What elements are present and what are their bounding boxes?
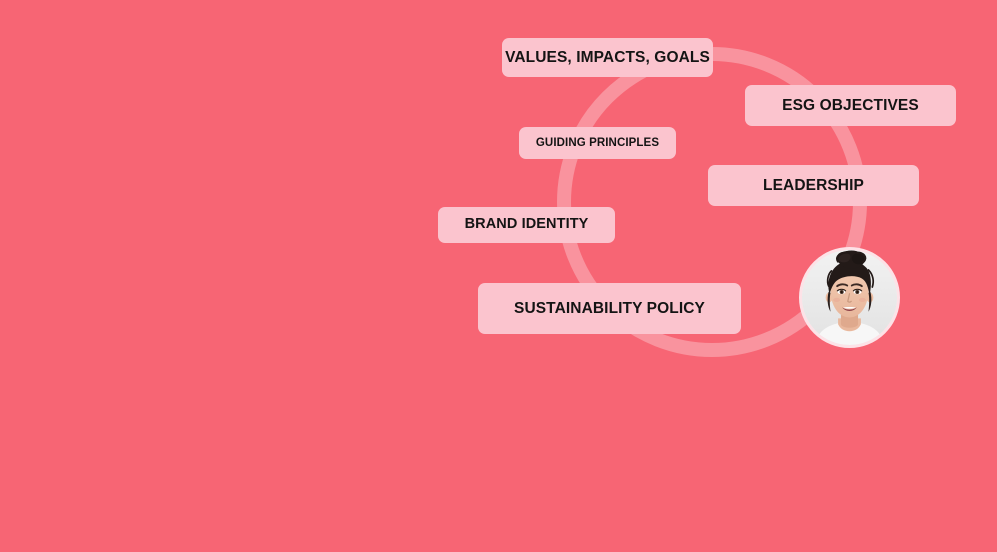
- label-chip-text: GUIDING PRINCIPLES: [536, 137, 659, 150]
- label-chip-text: LEADERSHIP: [763, 177, 864, 194]
- label-chip-leadership[interactable]: LEADERSHIP: [708, 165, 919, 206]
- avatar-photo: [802, 250, 897, 345]
- label-chip-brand-identity[interactable]: BRAND IDENTITY: [438, 207, 615, 243]
- slide-canvas: VALUES, IMPACTS, GOALS ESG OBJECTIVES GU…: [0, 0, 997, 552]
- label-chip-text: BRAND IDENTITY: [465, 217, 589, 233]
- label-chip-values-impacts-goals[interactable]: VALUES, IMPACTS, GOALS: [502, 38, 713, 77]
- avatar: [799, 247, 900, 348]
- label-chip-text: SUSTAINABILITY POLICY: [514, 300, 705, 317]
- label-chip-text: VALUES, IMPACTS, GOALS: [505, 49, 710, 66]
- label-chip-text: ESG OBJECTIVES: [782, 97, 919, 114]
- label-chip-esg-objectives[interactable]: ESG OBJECTIVES: [745, 85, 956, 126]
- label-chip-guiding-principles[interactable]: GUIDING PRINCIPLES: [519, 127, 676, 159]
- label-chip-sustainability-policy[interactable]: SUSTAINABILITY POLICY: [478, 283, 741, 334]
